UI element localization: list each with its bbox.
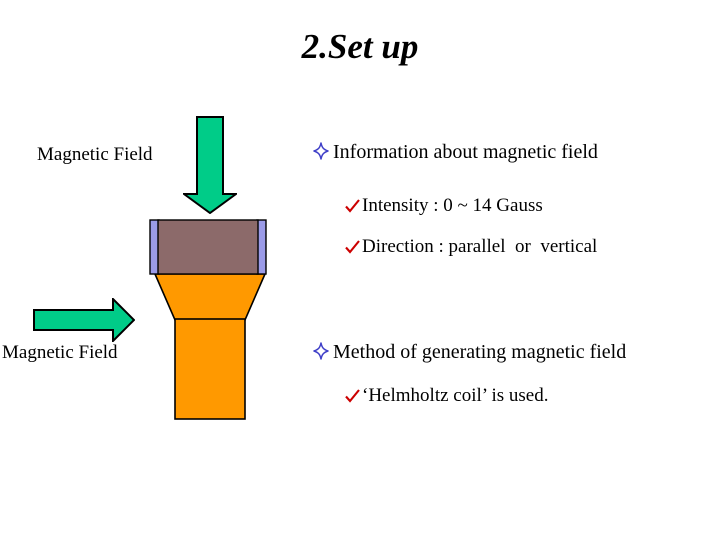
experimental-setup-diagram: Magnetic Field Magnetic Field [0, 0, 310, 540]
check-bullet-icon [345, 385, 362, 408]
magnetic-field-label-bottom: Magnetic Field [2, 342, 118, 364]
apparatus-graphic [145, 214, 275, 426]
arrow-right-icon [33, 298, 135, 342]
check-bullet-icon [345, 236, 362, 259]
sub-bullet-item-intensity: Intensity : 0 ~ 14 Gauss [345, 195, 543, 218]
arrow-down-icon [183, 116, 237, 214]
check-bullet-icon [345, 195, 362, 218]
slide-canvas: 2.Set up [0, 0, 720, 540]
sub-bullet-item-direction: Direction : parallel or vertical [345, 236, 597, 259]
diamond-bullet-icon [313, 340, 333, 364]
sub-bullet-item-helmholtz: ‘Helmholtz coil’ is used. [345, 385, 548, 408]
sub-bullet-label: Direction : parallel or vertical [362, 236, 597, 259]
diamond-bullet-icon [313, 140, 333, 164]
apparatus-chamber [158, 220, 258, 274]
bullet-item-method: Method of generating magnetic field [313, 340, 626, 364]
bullet-label: Method of generating magnetic field [333, 340, 626, 364]
apparatus-body [175, 319, 245, 419]
sub-bullet-label: Intensity : 0 ~ 14 Gauss [362, 195, 543, 218]
sub-bullet-label: ‘Helmholtz coil’ is used. [362, 385, 548, 408]
bullet-item-information: Information about magnetic field [313, 140, 598, 164]
bullet-label: Information about magnetic field [333, 140, 598, 164]
apparatus-neck [155, 274, 265, 320]
magnetic-field-label-top: Magnetic Field [37, 144, 153, 166]
